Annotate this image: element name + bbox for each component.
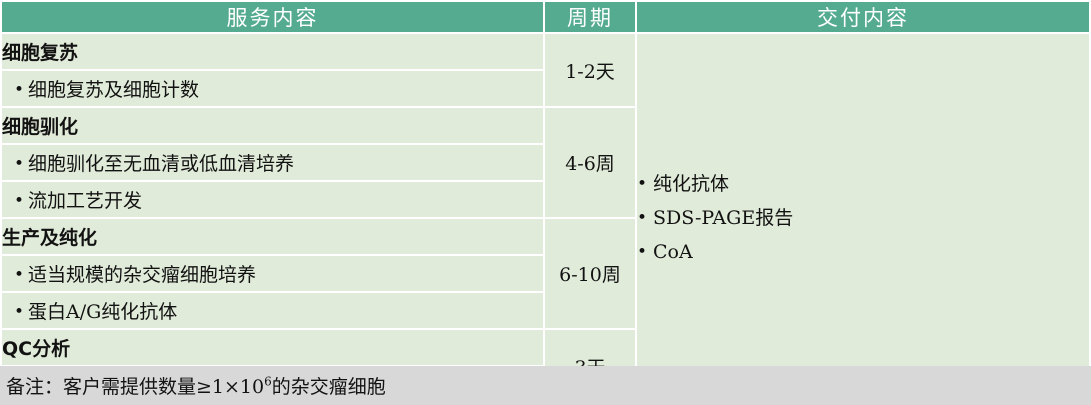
footnote-prefix: 备注：客户需提供数量≥1×10 (6, 376, 264, 398)
footnote-text: 备注：客户需提供数量≥1×106的杂交瘤细胞 (0, 372, 386, 399)
delivery-cell: •纯化抗体 •SDS-PAGE报告 •CoA (637, 34, 1089, 402)
bullet-icon: • (14, 267, 28, 284)
bullet-icon: • (637, 167, 653, 201)
service-heading-cell: 生产及纯化 (2, 219, 543, 254)
service-bullet-cell: •蛋白A/G纯化抗体 (2, 293, 543, 328)
service-item-label: 细胞驯化至无血清或低血清培养 (28, 153, 294, 175)
list-item: •SDS-PAGE报告 (637, 201, 1089, 235)
service-bullet-cell: •适当规模的杂交瘤细胞培养 (2, 256, 543, 291)
service-item-label: 细胞复苏及细胞计数 (28, 79, 199, 101)
service-item-label: 蛋白A/G纯化抗体 (28, 301, 177, 323)
delivery-list: •纯化抗体 •SDS-PAGE报告 •CoA (637, 167, 1089, 269)
table-footnote-row: 备注：客户需提供数量≥1×106的杂交瘤细胞 (0, 366, 1091, 405)
period-cell: 1-2天 (545, 34, 635, 106)
service-heading-cell: 细胞驯化 (2, 108, 543, 143)
service-table: 服务内容 周期 交付内容 细胞复苏 1-2天 •纯化抗体 •SDS-PAGE报告… (0, 0, 1091, 404)
bullet-icon: • (14, 304, 28, 321)
bullet-icon: • (14, 193, 28, 210)
footnote-suffix: 的杂交瘤细胞 (272, 376, 386, 398)
service-heading-cell: QC分析 (2, 330, 543, 365)
service-bullet-cell: •流加工艺开发 (2, 182, 543, 217)
table-header-row: 服务内容 周期 交付内容 (2, 2, 1089, 32)
service-bullet-cell: •细胞驯化至无血清或低血清培养 (2, 145, 543, 180)
service-table-container: 服务内容 周期 交付内容 细胞复苏 1-2天 •纯化抗体 •SDS-PAGE报告… (0, 0, 1091, 405)
bullet-icon: • (637, 235, 653, 269)
bullet-icon: • (14, 156, 28, 173)
column-header-delivery: 交付内容 (637, 2, 1089, 32)
period-cell: 6-10周 (545, 219, 635, 328)
bullet-icon: • (14, 82, 28, 99)
service-item-label: 适当规模的杂交瘤细胞培养 (28, 264, 256, 286)
delivery-item-label: CoA (653, 241, 693, 263)
column-header-period: 周期 (545, 2, 635, 32)
list-item: •CoA (637, 235, 1089, 269)
delivery-item-label: SDS-PAGE报告 (653, 207, 793, 229)
period-cell: 4-6周 (545, 108, 635, 217)
delivery-item-label: 纯化抗体 (653, 173, 729, 195)
service-heading-cell: 细胞复苏 (2, 34, 543, 69)
table-row: 细胞复苏 1-2天 •纯化抗体 •SDS-PAGE报告 •CoA (2, 34, 1089, 69)
list-item: •纯化抗体 (637, 167, 1089, 201)
service-bullet-cell: •细胞复苏及细胞计数 (2, 71, 543, 106)
footnote-exponent: 6 (264, 375, 272, 389)
column-header-service: 服务内容 (2, 2, 543, 32)
service-item-label: 流加工艺开发 (28, 190, 142, 212)
bullet-icon: • (637, 201, 653, 235)
